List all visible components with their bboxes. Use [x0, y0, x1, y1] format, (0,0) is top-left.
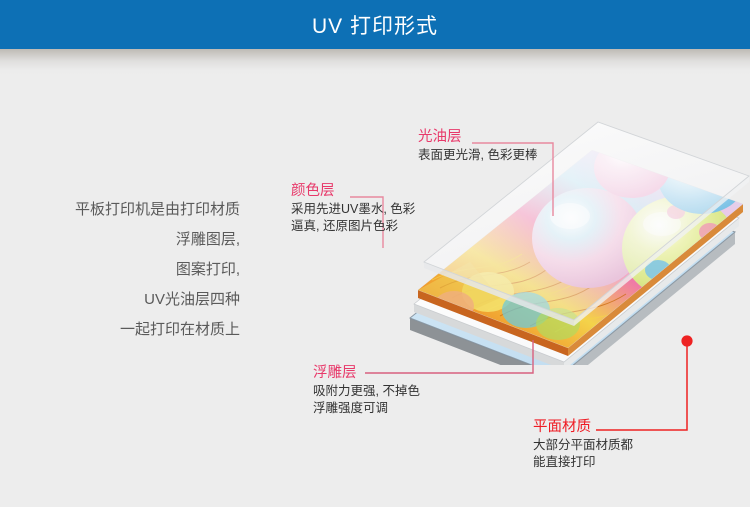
uv-printing-infographic: UV 打印形式 平板打印机是由打印材质 浮雕图层, 图案打印, UV光油层四种 … [0, 0, 750, 507]
page-header: UV 打印形式 [0, 0, 750, 49]
intro-line-4: UV光油层四种 [24, 285, 240, 315]
callout-material-desc-2: 能直接打印 [533, 454, 633, 471]
callout-varnish-desc-1: 表面更光滑, 色彩更棒 [418, 147, 537, 164]
callout-color-desc-1: 采用先进UV墨水, 色彩 [291, 201, 415, 218]
callout-varnish-title: 光油层 [418, 128, 537, 147]
intro-line-3: 图案打印, [24, 255, 240, 285]
callout-material: 平面材质 大部分平面材质都 能直接打印 [533, 418, 633, 471]
intro-paragraph: 平板打印机是由打印材质 浮雕图层, 图案打印, UV光油层四种 一起打印在材质上 [24, 195, 240, 345]
callout-color-title: 颜色层 [291, 182, 415, 201]
callout-material-title: 平面材质 [533, 418, 633, 437]
intro-line-2: 浮雕图层, [24, 225, 240, 255]
callout-relief-title: 浮雕层 [313, 364, 420, 383]
callout-relief-desc-1: 吸附力更强, 不掉色 [313, 383, 420, 400]
callout-color-desc-2: 逼真, 还原图片色彩 [291, 218, 415, 235]
callout-color: 颜色层 采用先进UV墨水, 色彩 逼真, 还原图片色彩 [291, 182, 415, 235]
page-title: UV 打印形式 [312, 10, 438, 40]
callout-varnish: 光油层 表面更光滑, 色彩更棒 [418, 128, 537, 164]
callout-material-desc-1: 大部分平面材质都 [533, 437, 633, 454]
intro-line-5: 一起打印在材质上 [24, 315, 240, 345]
callout-relief: 浮雕层 吸附力更强, 不掉色 浮雕强度可调 [313, 364, 420, 417]
callout-relief-desc-2: 浮雕强度可调 [313, 400, 420, 417]
intro-line-1: 平板打印机是由打印材质 [24, 195, 240, 225]
